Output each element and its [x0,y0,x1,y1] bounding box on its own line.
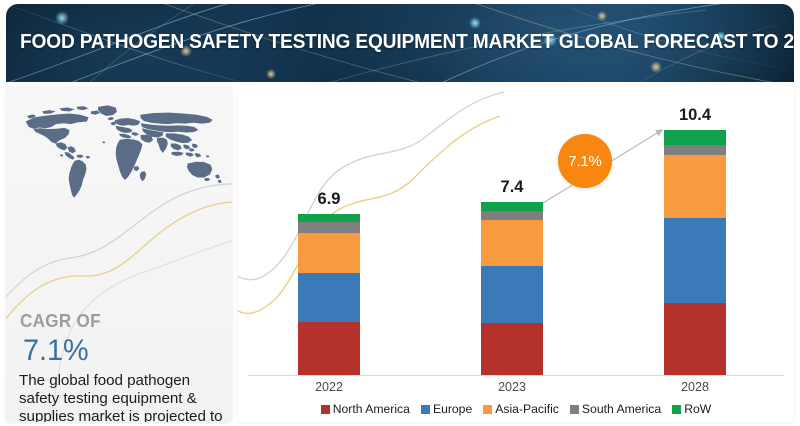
category-axis-line [248,375,784,376]
bar-segment-europe[interactable] [664,218,726,303]
bar-group-2022: 6.9 [298,130,360,375]
bar-total-label-2022: 6.9 [318,190,341,209]
bar-segment-row[interactable] [481,202,543,211]
bar-total-label-2023: 7.4 [501,178,524,197]
chart-panel: 6.9 2022 7.4 [238,86,794,422]
category-label-2023: 2023 [467,380,557,394]
legend-item-row[interactable]: RoW [672,402,711,416]
bar-segment-row[interactable] [298,214,360,222]
header-banner: FOOD PATHOGEN SAFETY TESTING EQUIPMENT M… [6,4,794,82]
bar-segment-south-america[interactable] [481,211,543,220]
legend-label: North America [333,402,410,416]
bar-group-2028: 10.4 [664,115,726,375]
legend-label: Asia-Pacific [495,402,559,416]
bar-segment-asia-pacific[interactable] [664,155,726,218]
plot-area: 6.9 2022 7.4 [238,86,794,422]
bar-stack-2022 [298,214,360,375]
bar-stack-2028 [664,130,726,375]
bar-total-label-2028: 10.4 [679,106,711,125]
cagr-value: 7.1% [23,334,89,368]
cagr-label: CAGR OF [20,311,101,332]
legend-item-south-america[interactable]: South America [570,402,661,416]
legend-label: Europe [433,402,472,416]
legend-label: RoW [684,402,711,416]
legend-swatch-icon [483,405,492,414]
summary-description: The global food pathogen safety testing … [19,372,225,422]
legend-item-north-america[interactable]: North America [321,402,410,416]
bar-group-2023: 7.4 [481,130,543,375]
legend-label: South America [582,402,661,416]
legend-swatch-icon [421,405,430,414]
bar-segment-north-america[interactable] [298,322,360,375]
bar-segment-asia-pacific[interactable] [481,220,543,266]
legend-swatch-icon [321,405,330,414]
summary-panel: CAGR OF 7.1% The global food pathogen sa… [6,86,232,422]
bar-segment-south-america[interactable] [664,145,726,155]
bar-segment-north-america[interactable] [664,303,726,375]
category-label-2028: 2028 [650,380,740,394]
infographic-root: FOOD PATHOGEN SAFETY TESTING EQUIPMENT M… [0,0,800,426]
legend-item-asia-pacific[interactable]: Asia-Pacific [483,402,559,416]
cagr-callout-bubble[interactable]: 7.1% [558,134,612,188]
bar-segment-europe[interactable] [298,273,360,322]
bar-segment-south-america[interactable] [298,222,360,233]
legend-item-europe[interactable]: Europe [421,402,472,416]
bar-segment-europe[interactable] [481,266,543,323]
bar-segment-asia-pacific[interactable] [298,233,360,273]
bar-segment-row[interactable] [664,130,726,145]
legend-swatch-icon [570,405,579,414]
page-title: FOOD PATHOGEN SAFETY TESTING EQUIPMENT M… [20,30,794,54]
chart-legend: North America Europe Asia-Pacific South … [238,402,794,416]
legend-swatch-icon [672,405,681,414]
bar-segment-north-america[interactable] [481,323,543,375]
world-map-icon [14,102,228,208]
category-label-2022: 2022 [284,380,374,394]
cagr-callout-label: 7.1% [568,153,601,170]
bar-stack-2023 [481,202,543,375]
